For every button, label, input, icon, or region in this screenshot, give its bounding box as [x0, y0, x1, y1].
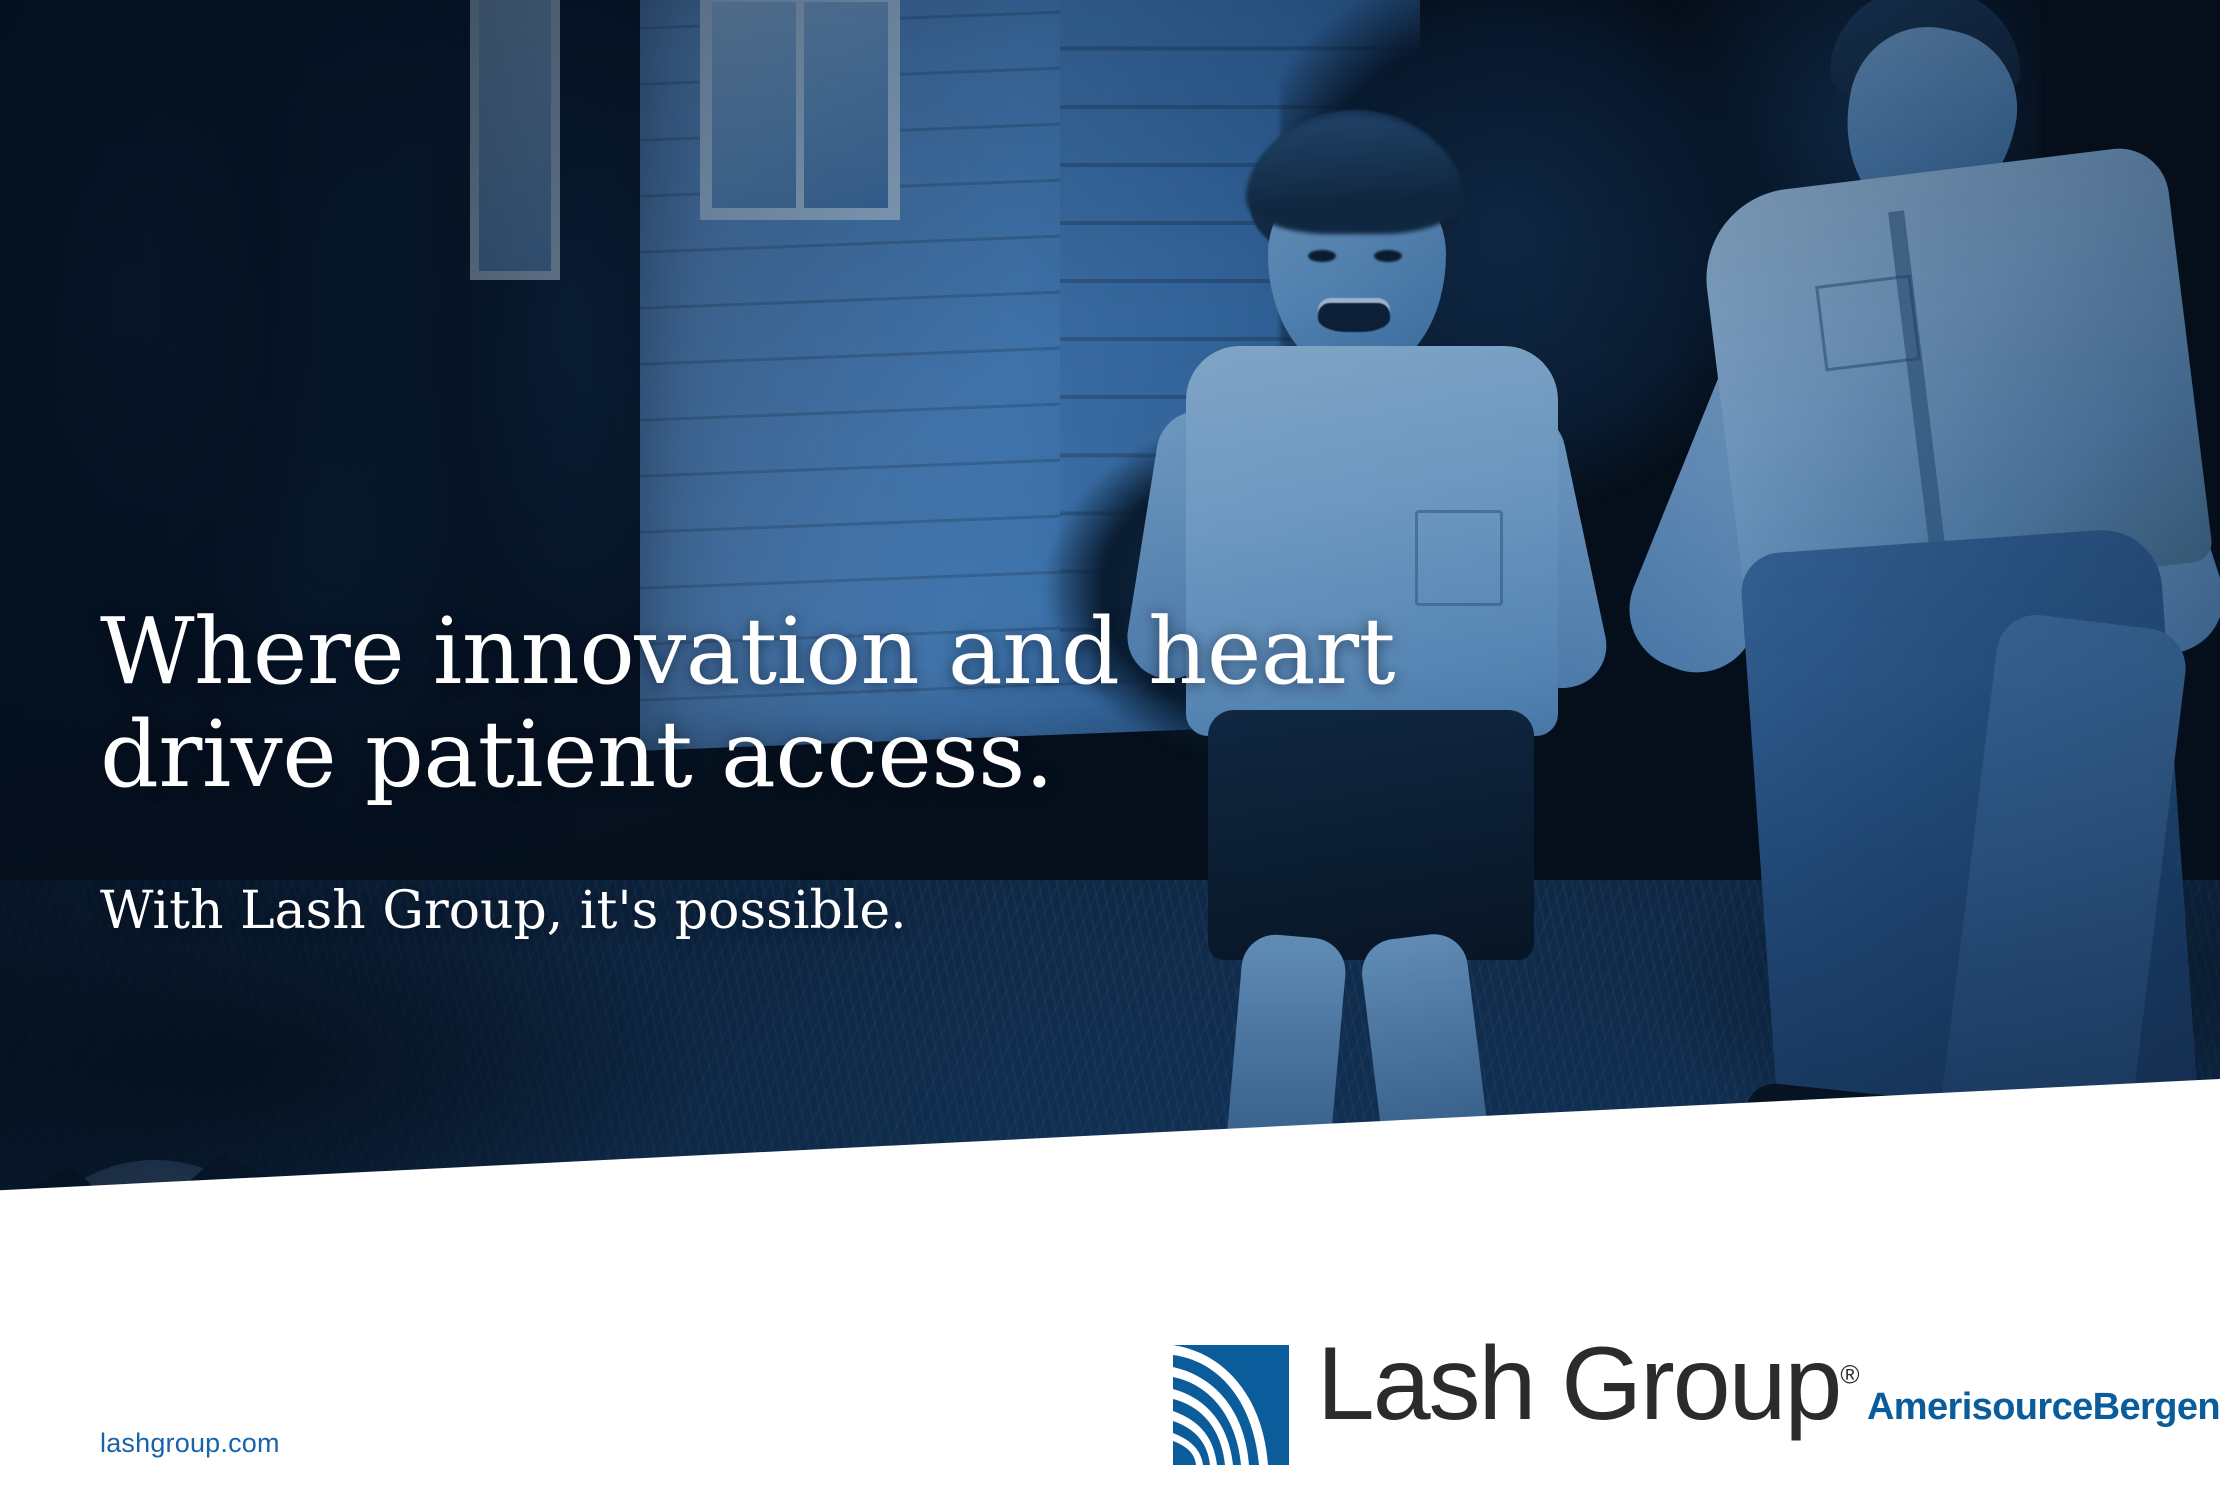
- website-url[interactable]: lashgroup.com: [100, 1428, 280, 1459]
- parent-brand-name: AmerisourceBergen: [1867, 1386, 2220, 1428]
- subheadline: With Lash Group, it's possible.: [100, 880, 1500, 942]
- logo-text-block: Lash Group® AmerisourceBergen: [1317, 1335, 2220, 1435]
- advertisement-poster: Where innovation and heart drive patient…: [0, 0, 2220, 1499]
- headline: Where innovation and heart drive patient…: [100, 600, 1500, 806]
- copy-block: Where innovation and heart drive patient…: [100, 600, 1500, 942]
- registered-trademark-icon: ®: [1840, 1359, 1859, 1389]
- logo-wordmark: Lash Group®: [1317, 1326, 1860, 1442]
- logo-wordmark-text: Lash Group: [1317, 1326, 1840, 1442]
- headline-line-2: drive patient access.: [100, 703, 1500, 806]
- lash-group-feather-mark-icon: [1167, 1341, 1295, 1469]
- headline-line-1: Where innovation and heart: [100, 598, 1395, 705]
- lash-group-logo[interactable]: Lash Group® AmerisourceBergen: [1167, 1335, 2220, 1469]
